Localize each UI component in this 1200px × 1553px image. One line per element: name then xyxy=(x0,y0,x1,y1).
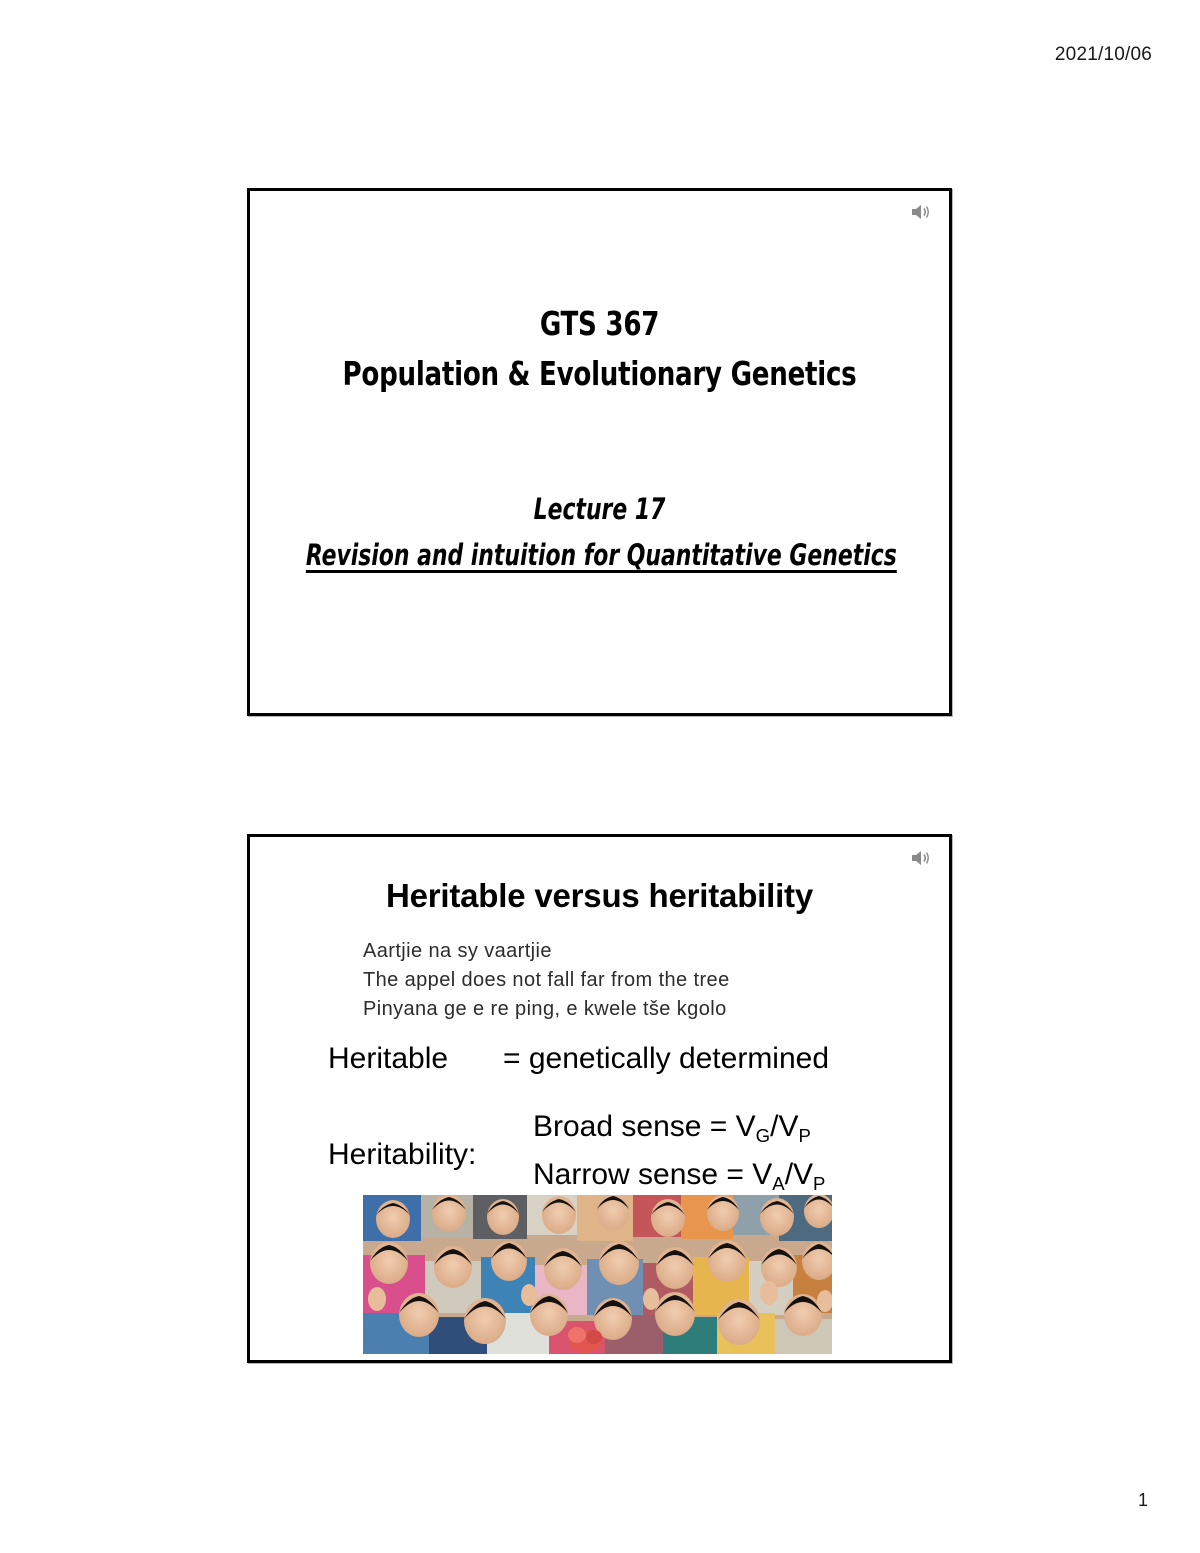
heritability-label: Heritability: xyxy=(328,1138,533,1172)
narrow-sense-divider: /V xyxy=(785,1158,813,1191)
slide-2: Heritable versus heritability Aartjie na… xyxy=(247,834,952,1363)
slide-title-line-1: GTS 367 xyxy=(292,299,907,349)
broad-sense-subscript-g: G xyxy=(756,1125,770,1146)
narrow-sense-prefix: Narrow sense = V xyxy=(533,1158,772,1191)
lecture-topic: Revision and intuition for Quantitative … xyxy=(306,532,893,578)
narrow-sense-subscript-a: A xyxy=(772,1173,784,1194)
heritable-term: Heritable xyxy=(328,1042,503,1076)
page-date: 2021/10/06 xyxy=(1055,44,1152,66)
heritability-formulas: Broad sense = VG/VP Narrow sense = VA/VP xyxy=(533,1107,825,1203)
slide-1-title-block: GTS 367 Population & Evolutionary Geneti… xyxy=(250,299,949,399)
broad-sense-prefix: Broad sense = V xyxy=(533,1110,756,1143)
speaker-icon[interactable] xyxy=(909,201,933,223)
narrow-sense-subscript-p: P xyxy=(813,1173,825,1194)
slide-2-heading: Heritable versus heritability xyxy=(250,877,949,915)
proverb-block: Aartjie na sy vaartjie The appel does no… xyxy=(363,937,730,1024)
slide-1: GTS 367 Population & Evolutionary Geneti… xyxy=(247,188,952,716)
slide-1-subtitle-block: Lecture 17 Revision and intuition for Qu… xyxy=(250,486,949,578)
page-number: 1 xyxy=(1138,1490,1148,1511)
heritable-definition: = genetically determined xyxy=(503,1042,829,1076)
heritability-row: Heritability: Broad sense = VG/VP Narrow… xyxy=(328,1107,908,1203)
speaker-icon[interactable] xyxy=(909,847,933,869)
proverb-line-afrikaans: Aartjie na sy vaartjie xyxy=(363,937,730,966)
slide-title-line-2: Population & Evolutionary Genetics xyxy=(292,349,907,399)
broad-sense-subscript-p: P xyxy=(798,1125,810,1146)
crowd-of-children-photo xyxy=(363,1195,832,1354)
proverb-line-english: The appel does not fall far from the tre… xyxy=(363,966,730,995)
heritable-definition-row: Heritable = genetically determined xyxy=(328,1042,888,1076)
proverb-line-sepedi: Pinyana ge e re ping, e kwele tše kgolo xyxy=(363,995,730,1024)
broad-sense-divider: /V xyxy=(770,1110,798,1143)
broad-sense-formula: Broad sense = VG/VP xyxy=(533,1107,825,1155)
lecture-number: Lecture 17 xyxy=(306,486,893,532)
